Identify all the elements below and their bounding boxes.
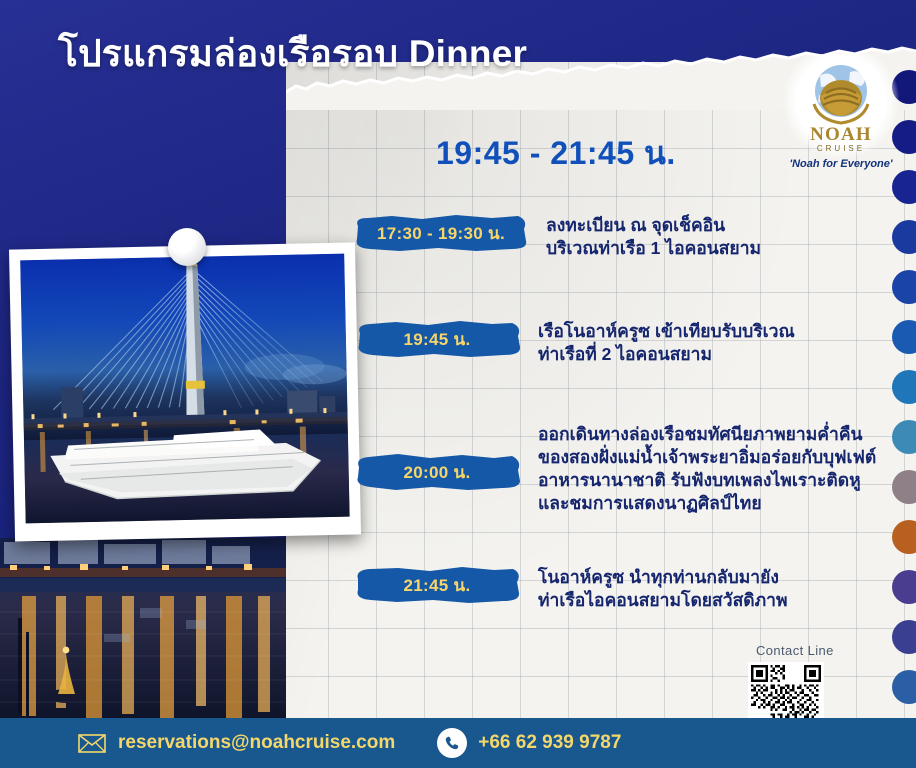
cruise-photo-card (9, 242, 361, 541)
footer-bar: reservations@noahcruise.com +66 62 939 9… (0, 718, 916, 768)
edge-dot (892, 620, 916, 654)
edge-dot (892, 520, 916, 554)
schedule-time-badge: 17:30 - 19:30 น. (352, 214, 530, 252)
poster-root: โปรแกรมล่องเรือรอบ Dinner 19:45 - 21:45 … (0, 0, 916, 768)
schedule-time-badge: 20:00 น. (352, 453, 522, 491)
edge-dot (892, 270, 916, 304)
schedule-description: เรือโนอาห์ครูซ เข้าเทียบรับบริเวณ ท่าเรื… (538, 320, 795, 366)
logo-tagline: 'Noah for Everyone' (780, 158, 902, 170)
edge-dot (892, 320, 916, 354)
schedule-description: ออกเดินทางล่องเรือชมทัศนียภาพยามค่ำคืน ข… (538, 423, 876, 515)
schedule-row-2: 19:45 น. เรือโนอาห์ครูซ เข้าเทียบรับบริเ… (352, 320, 795, 366)
cruise-time-range: 19:45 - 21:45 น. (436, 128, 676, 179)
page-title: โปรแกรมล่องเรือรอบ Dinner (58, 24, 527, 83)
contact-line-label: Contact Line (756, 643, 834, 658)
logo-name: NOAH (780, 124, 902, 146)
rama-viii-bridge-cruise-photo (20, 254, 349, 524)
logo-subtitle: CRUISE (780, 144, 902, 153)
schedule-time-label: 19:45 น. (404, 326, 471, 353)
footer-email[interactable]: reservations@noahcruise.com (78, 732, 395, 754)
edge-dot (892, 220, 916, 254)
schedule-description: ลงทะเบียน ณ จุดเช็คอิน บริเวณท่าเรือ 1 ไ… (546, 214, 761, 260)
schedule-description: โนอาห์ครูซ นำทุกท่านกลับมายัง ท่าเรือไอค… (538, 566, 788, 612)
schedule-row-4: 21:45 น. โนอาห์ครูซ นำทุกท่านกลับมายัง ท… (352, 566, 788, 612)
footer-email-text: reservations@noahcruise.com (118, 732, 395, 754)
round-pin-icon (168, 228, 206, 266)
footer-phone-text: +66 62 939 9787 (478, 732, 621, 754)
schedule-time-badge: 21:45 น. (352, 566, 522, 604)
schedule-time-label: 17:30 - 19:30 น. (377, 220, 505, 247)
schedule-row-1: 17:30 - 19:30 น. ลงทะเบียน ณ จุดเช็คอิน … (352, 214, 761, 260)
footer-phone[interactable]: +66 62 939 9787 (437, 728, 621, 758)
schedule-time-label: 21:45 น. (404, 572, 471, 599)
edge-dot (892, 570, 916, 604)
schedule-time-label: 20:00 น. (404, 459, 471, 486)
schedule-row-3: 20:00 น. ออกเดินทางล่องเรือชมทัศนียภาพยา… (352, 423, 876, 515)
night-river-reflections-photo (0, 538, 286, 728)
edge-dot (892, 670, 916, 704)
schedule-time-badge: 19:45 น. (352, 320, 522, 358)
ark-globe-icon (808, 60, 874, 126)
noah-cruise-logo: NOAH CRUISE 'Noah for Everyone' (780, 58, 902, 180)
edge-dot (892, 420, 916, 454)
envelope-icon (78, 734, 106, 753)
edge-dot (892, 470, 916, 504)
edge-dot (892, 370, 916, 404)
phone-icon (437, 728, 467, 758)
